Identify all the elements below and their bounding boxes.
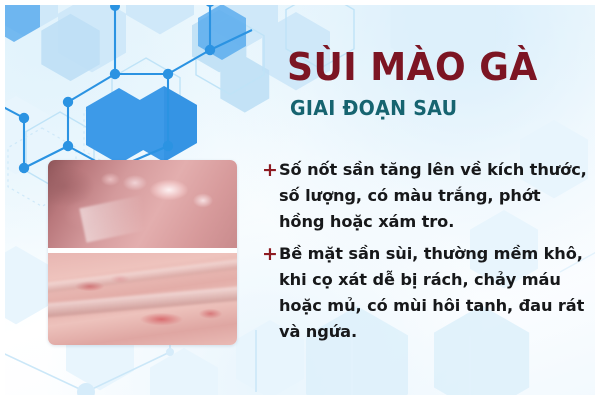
symptom-list: + Số nốt sần tăng lên về kích thước, số …	[262, 157, 588, 351]
heading-block: SÙI MÀO GÀ GIAI ĐOẠN SAU	[287, 48, 587, 118]
page-title: SÙI MÀO GÀ	[287, 48, 572, 86]
list-item: + Số nốt sần tăng lên về kích thước, số …	[262, 157, 588, 235]
list-item-text: Bề mặt sần sùi, thường mềm khô, khi cọ x…	[279, 241, 588, 345]
list-item: + Bề mặt sần sùi, thường mềm khô, khi cọ…	[262, 241, 588, 345]
plus-icon: +	[262, 241, 279, 267]
infographic-poster: SÙI MÀO GÀ GIAI ĐOẠN SAU + Số nốt sần tă…	[0, 0, 600, 400]
plus-icon: +	[262, 157, 279, 183]
page-subtitle: GIAI ĐOẠN SAU	[290, 98, 572, 118]
clinical-photo-bottom	[48, 253, 237, 345]
clinical-photo-top	[48, 160, 237, 248]
list-item-text: Số nốt sần tăng lên về kích thước, số lư…	[279, 157, 588, 235]
clinical-photo-stack	[48, 160, 237, 345]
